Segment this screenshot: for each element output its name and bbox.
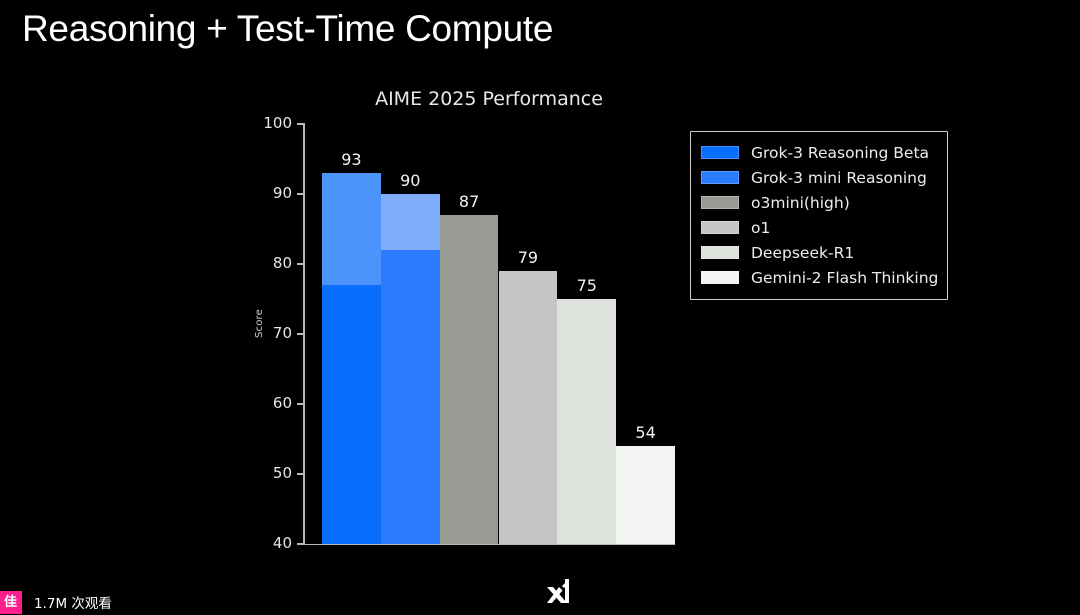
chart-container: AIME 2025 Performance Score 405060708090… — [0, 0, 1080, 615]
bar-segment — [557, 299, 616, 544]
bar — [381, 194, 440, 544]
legend-item: Grok-3 mini Reasoning — [701, 165, 937, 190]
legend-swatch — [701, 271, 739, 284]
bar — [499, 271, 558, 544]
bar-segment — [616, 446, 675, 544]
bar-segment — [440, 215, 499, 544]
legend-label: o1 — [751, 219, 770, 237]
legend-label: Gemini-2 Flash Thinking — [751, 269, 938, 287]
legend-item: o3mini(high) — [701, 190, 937, 215]
bar-segment-upper — [322, 173, 381, 285]
legend-item: Grok-3 Reasoning Beta — [701, 140, 937, 165]
footer-overlay: 佳 1.7M 次观看 — [0, 589, 1080, 615]
y-tick-label: 80 — [262, 254, 292, 272]
legend-item: Deepseek-R1 — [701, 240, 937, 265]
bar — [322, 173, 381, 544]
legend-swatch — [701, 196, 739, 209]
legend-swatch — [701, 171, 739, 184]
bar-segment-lower — [381, 250, 440, 544]
legend-label: Grok-3 Reasoning Beta — [751, 144, 929, 162]
bar-value-label: 87 — [440, 192, 499, 211]
plot-bars: 939087797554 — [303, 124, 675, 544]
bar — [440, 215, 499, 544]
y-tick-label: 90 — [262, 184, 292, 202]
chart-legend: Grok-3 Reasoning BetaGrok-3 mini Reasoni… — [690, 131, 948, 300]
bar-value-label: 90 — [381, 171, 440, 190]
legend-swatch — [701, 246, 739, 259]
bar-segment-upper — [381, 194, 440, 250]
bar-value-label: 93 — [322, 150, 381, 169]
y-tick-label: 50 — [262, 464, 292, 482]
bar-value-label: 75 — [557, 276, 616, 295]
legend-item: o1 — [701, 215, 937, 240]
legend-item: Gemini-2 Flash Thinking — [701, 265, 937, 290]
bar-value-label: 79 — [499, 248, 558, 267]
legend-swatch — [701, 221, 739, 234]
y-tick-label: 60 — [262, 394, 292, 412]
bar — [557, 299, 616, 544]
legend-swatch — [701, 146, 739, 159]
legend-label: Deepseek-R1 — [751, 244, 854, 262]
bar-segment-lower — [322, 285, 381, 544]
legend-label: Grok-3 mini Reasoning — [751, 169, 927, 187]
bar — [616, 446, 675, 544]
chart-title: AIME 2025 Performance — [303, 88, 675, 110]
y-tick-label: 40 — [262, 534, 292, 552]
footer-badge: 佳 — [0, 591, 22, 614]
bar-segment — [499, 271, 558, 544]
bar-value-label: 54 — [616, 423, 675, 442]
view-count: 1.7M 次观看 — [34, 592, 112, 612]
y-tick-label: 70 — [262, 324, 292, 342]
y-tick-label: 100 — [262, 114, 292, 132]
legend-label: o3mini(high) — [751, 194, 850, 212]
